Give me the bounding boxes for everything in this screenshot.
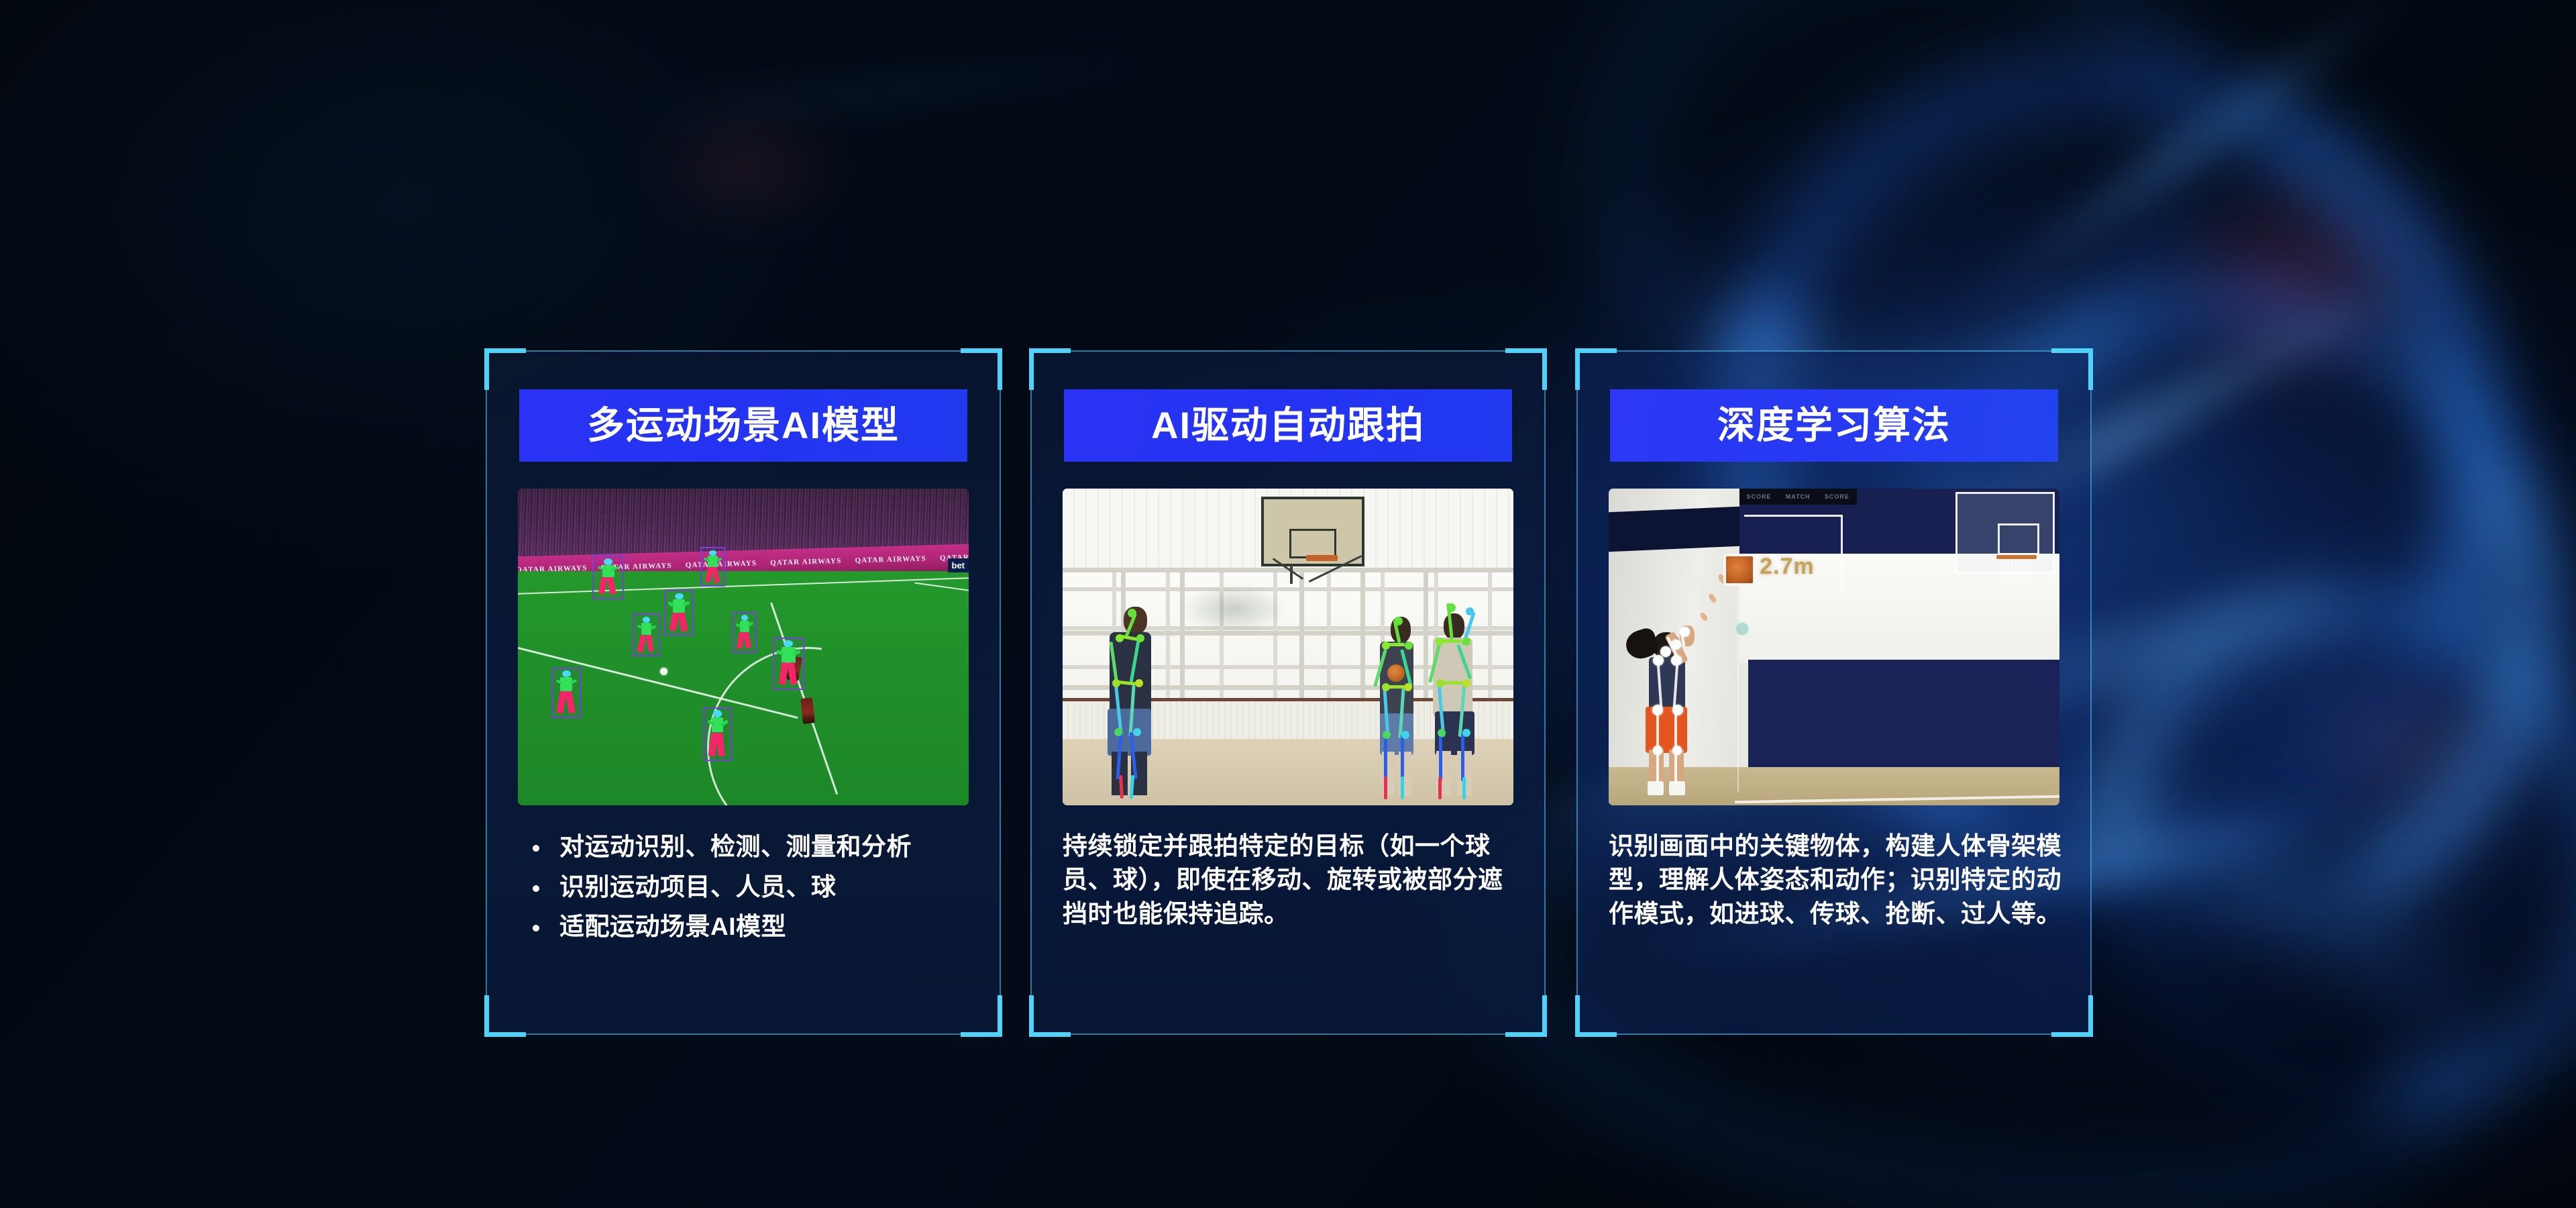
pose-skeleton (634, 615, 658, 655)
card-media-shot-measurement[interactable]: SCORE MATCH SCORE (1609, 489, 2059, 805)
shooter-with-pose-skeleton (1631, 621, 1721, 799)
measurement-guide-horizontal (1744, 515, 1843, 517)
gym-scene (1063, 489, 1513, 805)
measurement-guide-drop (1737, 558, 1739, 793)
player-shoe (1669, 781, 1685, 795)
warm-glow (644, 101, 845, 235)
feature-card-deep-learning-algorithm[interactable]: 深度学习算法 SCORE MATCH SCORE (1576, 350, 2092, 1035)
card-body: 对运动识别、检测、测量和分析 识别运动项目、人员、球 适配运动场景AI模型 (518, 829, 971, 950)
warm-glow (2153, 168, 2435, 396)
card-description: 识别画面中的关键物体，构建人体骨架模型，理解人体姿态和动作；识别特定的动作模式，… (1609, 829, 2062, 931)
bullet-item: 识别运动项目、人员、球 (518, 870, 971, 905)
pose-skeleton (702, 548, 724, 585)
detection-box (773, 638, 804, 690)
window-tree-silhouette (1180, 584, 1288, 635)
ball-tracking-box (1723, 554, 1756, 586)
pose-skeleton (594, 556, 623, 598)
player-with-pose-skeleton (1089, 603, 1179, 799)
card-header-bar: 深度学习算法 (1610, 389, 2058, 462)
card-description: 持续锁定并跟拍特定的目标（如一个球员、球），即使在移动、旋转或被部分遮挡时也能保… (1063, 829, 1516, 931)
card-body: 识别画面中的关键物体，构建人体骨架模型，理解人体姿态和动作；识别特定的动作模式，… (1609, 829, 2062, 931)
detection-box (551, 668, 581, 719)
backboard-square (1998, 523, 2039, 555)
card-media-basketball-pose[interactable] (1063, 489, 1513, 805)
light-streak (604, 42, 1207, 135)
pose-skeleton (774, 639, 803, 689)
scoreboard-label: SCORE (1747, 493, 1772, 500)
player-head (1444, 613, 1465, 640)
detection-box (700, 547, 725, 587)
sponsor-text: QATAR AIRWAYS (848, 554, 933, 565)
card-header-bar: AI驱动自动跟拍 (1064, 389, 1512, 462)
card-body: 持续锁定并跟拍特定的目标（如一个球员、球），即使在移动、旋转或被部分遮挡时也能保… (1063, 829, 1516, 931)
detection-box (592, 555, 624, 599)
feature-bullet-list: 对运动识别、检测、测量和分析 识别运动项目、人员、球 适配运动场景AI模型 (518, 829, 971, 945)
basketball-rim (1996, 555, 2037, 559)
pose-skeleton (665, 591, 692, 634)
player-shoe (1648, 781, 1664, 795)
detection-box (664, 590, 694, 636)
card-media-soccer-detection[interactable]: QATAR AIRWAYS QATAR AIRWAYS QATAR AIRWAY… (518, 489, 969, 805)
scoreboard-label: MATCH (1786, 493, 1811, 500)
measurement-guide-vertical (1841, 515, 1843, 594)
detection-box (633, 613, 659, 656)
bullet-item: 对运动识别、检测、测量和分析 (518, 829, 971, 865)
soccer-ball (660, 668, 667, 675)
basketball (1387, 664, 1405, 682)
sponsor-text: QATAR AIRWAYS (763, 557, 849, 568)
court-wall-pad (1748, 660, 2059, 770)
scoreboard-label: SCORE (1825, 493, 1849, 500)
feature-card-multi-sport-ai-model[interactable]: 多运动场景AI模型 QATAR AIRWAYS QATAR AIRWAYS QA… (486, 350, 1001, 1035)
card-title: 多运动场景AI模型 (587, 407, 900, 444)
detection-box (732, 612, 757, 653)
soccer-scene: QATAR AIRWAYS QATAR AIRWAYS QATAR AIRWAY… (518, 489, 969, 805)
scoreboard: SCORE MATCH SCORE (1739, 489, 1857, 505)
card-header-bar: 多运动场景AI模型 (519, 389, 967, 462)
hoop-post (1290, 564, 1293, 583)
basketball-net (1998, 560, 2035, 577)
betting-board: bet (948, 558, 969, 572)
pose-skeleton (553, 669, 580, 717)
card-title: AI驱动自动跟拍 (1151, 407, 1425, 444)
pose-skeleton (704, 709, 731, 760)
backboard-square (1289, 529, 1336, 558)
basketball-rim (1306, 555, 1338, 561)
height-measurement-label: 2.7m (1760, 554, 1815, 580)
pose-skeleton (733, 613, 755, 652)
court-pillar-band (1609, 506, 1739, 552)
bullet-item: 适配运动场景AI模型 (518, 909, 971, 945)
light-streak (1935, 0, 2425, 340)
player-with-pose-skeleton (1414, 599, 1500, 799)
card-title: 深度学习算法 (1717, 407, 1951, 444)
feature-card-ai-auto-tracking[interactable]: AI驱动自动跟拍 (1030, 350, 1546, 1035)
court-scene: SCORE MATCH SCORE (1609, 489, 2059, 805)
detection-box (703, 707, 733, 761)
warm-glow (2294, 658, 2522, 832)
player-jersey (1649, 657, 1685, 710)
screenshot-root: 多运动场景AI模型 QATAR AIRWAYS QATAR AIRWAYS QA… (0, 0, 2576, 1208)
